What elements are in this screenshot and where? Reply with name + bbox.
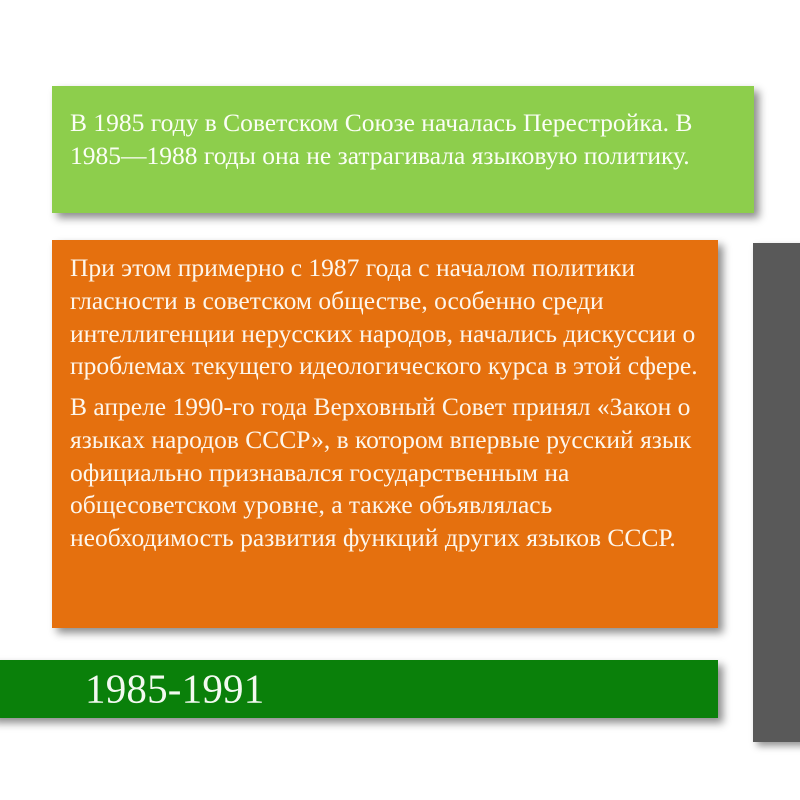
green-callout-box: В 1985 году в Советском Союзе началась П… (52, 86, 754, 213)
decorative-side-panel (753, 243, 800, 742)
orange-callout-paragraph-1: При этом примерно с 1987 года с началом … (70, 252, 700, 383)
slide-title-text: 1985-1991 (85, 667, 264, 710)
orange-callout-paragraph-2: В апреле 1990-го года Верховный Совет пр… (70, 391, 700, 555)
slide-title-bar: 1985-1991 (0, 660, 718, 718)
orange-callout-box: При этом примерно с 1987 года с началом … (52, 240, 718, 628)
slide-canvas: В 1985 году в Советском Союзе началась П… (0, 0, 800, 800)
green-callout-paragraph-1: В 1985 году в Советском Союзе началась П… (70, 106, 728, 172)
